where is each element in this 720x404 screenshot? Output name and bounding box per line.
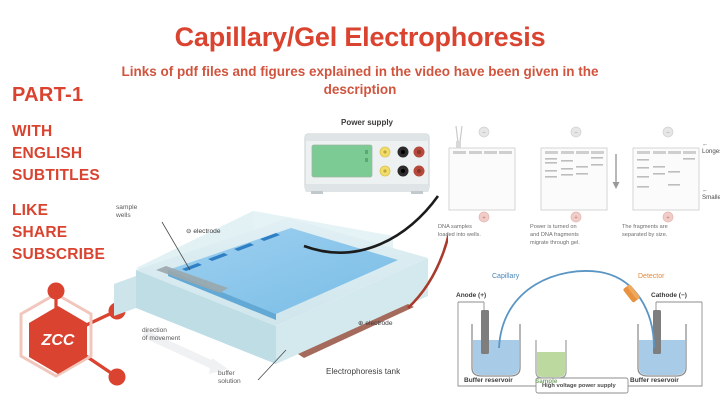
svg-text:−: − xyxy=(666,131,670,137)
buffer-reservoir-right-label: Buffer reservoir xyxy=(630,377,679,384)
direction-of-movement-label: direction of movement xyxy=(142,327,180,344)
svg-text:+: + xyxy=(574,216,578,222)
promo-line-subtitles: SUBTITLES xyxy=(12,165,100,187)
gel-step-1: − + DNA samples loaded into wells. xyxy=(438,126,526,231)
gel-step-2-caption: Power is turned on and DNA fragments mig… xyxy=(530,224,622,248)
longest-fragment-label: ← Longest xyxy=(702,141,720,155)
promo-line-subscribe: SUBSCRIBE xyxy=(12,244,105,266)
svg-text:−: − xyxy=(482,131,486,137)
anode-label: Anode (+) xyxy=(456,292,486,299)
electrophoresis-tank-illustration: sample wells ⊖ electrode direction of mo… xyxy=(108,118,448,404)
promo-line-share: SHARE xyxy=(12,222,105,244)
engagement-promo-block: LIKE SHARE SUBSCRIBE xyxy=(12,200,105,266)
promo-line-english: ENGLISH xyxy=(12,143,100,165)
high-voltage-power-supply-label: High voltage power supply xyxy=(542,383,616,389)
tank-graphic xyxy=(108,118,448,404)
page-subtitle: Links of pdf files and figures explained… xyxy=(120,63,600,99)
capillary-label: Capillary xyxy=(492,273,519,280)
gel-step-2-graphic: − xyxy=(530,126,630,226)
gel-step-3: − xyxy=(622,126,720,231)
gel-step-1-graphic: − + xyxy=(438,126,530,226)
cathode-label: Cathode (−) xyxy=(651,292,687,299)
slide-canvas: Capillary/Gel Electrophoresis Links of p… xyxy=(0,0,720,404)
promo-line-like: LIKE xyxy=(12,200,105,222)
gel-step-3-caption: The fragments are separated by size. xyxy=(622,224,714,240)
gel-step-1-caption: DNA samples loaded into wells. xyxy=(438,224,530,240)
promo-line-with: WITH xyxy=(12,121,100,143)
page-title: Capillary/Gel Electrophoresis xyxy=(110,22,610,53)
svg-text:+: + xyxy=(482,216,486,222)
svg-text:−: − xyxy=(574,131,578,137)
detector-label: Detector xyxy=(638,273,664,280)
zcc-logo-text: ZCC xyxy=(41,332,75,349)
subtitles-promo-block: WITH ENGLISH SUBTITLES xyxy=(12,121,100,187)
svg-text:+: + xyxy=(666,216,670,222)
part-label: PART-1 xyxy=(12,84,83,107)
negative-electrode-label: ⊖ electrode xyxy=(186,228,220,236)
buffer-reservoir-left-label: Buffer reservoir xyxy=(464,377,513,384)
electrophoresis-tank-label: Electrophoresis tank xyxy=(326,367,400,376)
capillary-electrophoresis-diagram: Capillary Detector Anode (+) Cathode (−)… xyxy=(440,264,720,404)
gel-step-2: − xyxy=(530,126,618,231)
smallest-fragment-label: ← Smallest xyxy=(702,187,720,201)
gel-step-panels: − + DNA samples loaded into wells. xyxy=(438,126,720,266)
positive-electrode-label: ⊕ electrode xyxy=(358,320,392,328)
sample-wells-label: sample wells xyxy=(116,204,137,221)
buffer-solution-label: buffer solution xyxy=(218,370,241,387)
